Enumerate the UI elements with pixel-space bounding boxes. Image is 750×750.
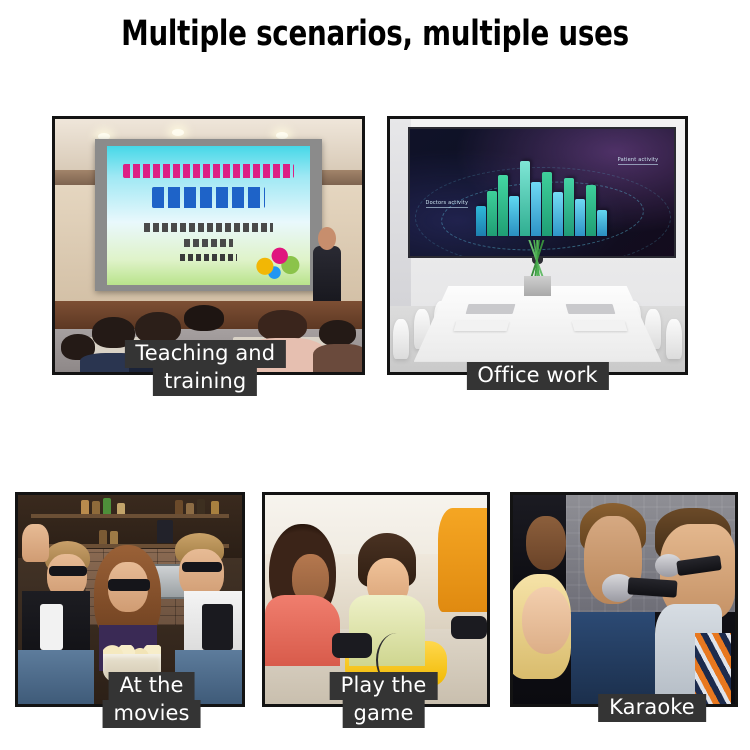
caption-teaching: Teaching and training (124, 340, 286, 396)
slide-title-text (152, 187, 265, 208)
laptop (465, 304, 515, 314)
chart-bar (586, 185, 596, 235)
chair (393, 319, 409, 359)
scenario-card-game[interactable]: Play the game (262, 492, 490, 707)
chart-bar (564, 178, 574, 235)
game-controller-left (332, 633, 372, 658)
tv-3d-bar-chart (473, 149, 611, 236)
slide-date-text (180, 254, 237, 261)
projected-slide (107, 146, 310, 285)
3d-glasses-center (108, 579, 151, 592)
scenario-card-karaoke[interactable]: Karaoke (510, 492, 738, 707)
chart-bar (487, 191, 497, 236)
slide-author-text (184, 239, 233, 247)
person-right-print (202, 604, 233, 650)
slide-heading-text (123, 164, 293, 178)
girl-shirt (265, 595, 340, 666)
caption-office: Office work (466, 362, 608, 390)
chart-bar (509, 196, 519, 236)
caption-line-2: movies (103, 700, 201, 728)
caption-line-1: Teaching and (124, 340, 286, 368)
photo-office-conference-room: Patient activity Doctors activity (390, 119, 685, 372)
slide-org-text (144, 223, 274, 231)
3d-glasses-left (49, 566, 87, 576)
background-person-face (526, 516, 566, 570)
chart-bar (498, 175, 508, 236)
photo-teaching-classroom (55, 119, 362, 372)
scenario-card-office[interactable]: Patient activity Doctors activity Office… (387, 116, 688, 375)
chart-bar (531, 182, 541, 236)
caption-line-1: Office work (466, 362, 608, 390)
slide-logo (249, 239, 302, 281)
chart-label-doctors-activity: Doctors activity (426, 200, 469, 208)
plant-pot (524, 276, 551, 296)
caption-line-2: game (343, 700, 425, 728)
laptop (566, 304, 616, 314)
chart-bar (542, 172, 552, 236)
chart-label-patient-activity: Patient activity (618, 157, 659, 165)
chart-bar (553, 192, 563, 235)
woman-face (522, 587, 571, 654)
caption-movies: At the movies (103, 672, 201, 728)
game-controller-right (451, 616, 487, 639)
scenario-card-teaching[interactable]: Teaching and training (52, 116, 365, 375)
chart-bar (476, 206, 486, 235)
scenario-card-movies[interactable]: At the movies (15, 492, 245, 707)
wall-mounted-tv: Patient activity Doctors activity (408, 127, 676, 259)
caption-line-2: training (153, 368, 257, 396)
jersey-number (40, 604, 62, 650)
page-root: Multiple scenarios, multiple uses (0, 0, 750, 750)
caption-line-1: Play the (330, 672, 438, 700)
document (453, 321, 509, 331)
table-plant (520, 240, 555, 280)
center-man-shirt (571, 612, 655, 704)
person-left-hand (22, 524, 49, 562)
photo-friends-karaoke (513, 495, 735, 704)
chart-bar (597, 210, 607, 236)
person-left-jeans (18, 650, 94, 704)
document (571, 321, 627, 331)
background-person (438, 508, 487, 613)
chart-bar (520, 161, 530, 236)
caption-line-1: At the (109, 672, 195, 700)
3d-glasses-right (182, 562, 222, 572)
chair (666, 319, 682, 359)
caption-game: Play the game (330, 672, 438, 728)
microphone-body-center (628, 577, 678, 597)
chart-bar (575, 199, 585, 235)
page-title: Multiple scenarios, multiple uses (45, 14, 705, 54)
caption-line-1: Karaoke (598, 694, 706, 722)
caption-karaoke: Karaoke (598, 694, 706, 722)
